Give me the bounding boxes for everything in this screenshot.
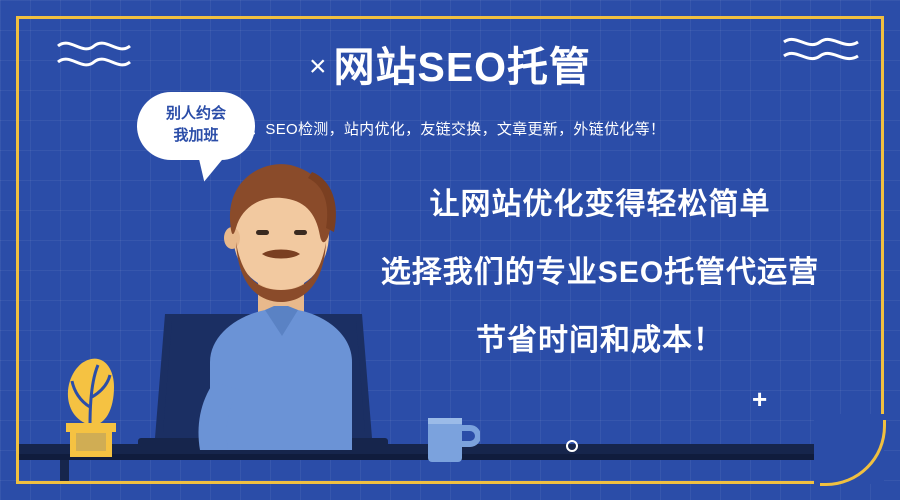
corner-arc-decoration: [820, 420, 886, 486]
corner-arc-wrap: [16, 16, 884, 484]
poster-canvas: ×网站SEO托管 含：SEO检测，站内优化，友链交换，文章更新，外链优化等！ 让…: [0, 0, 900, 500]
